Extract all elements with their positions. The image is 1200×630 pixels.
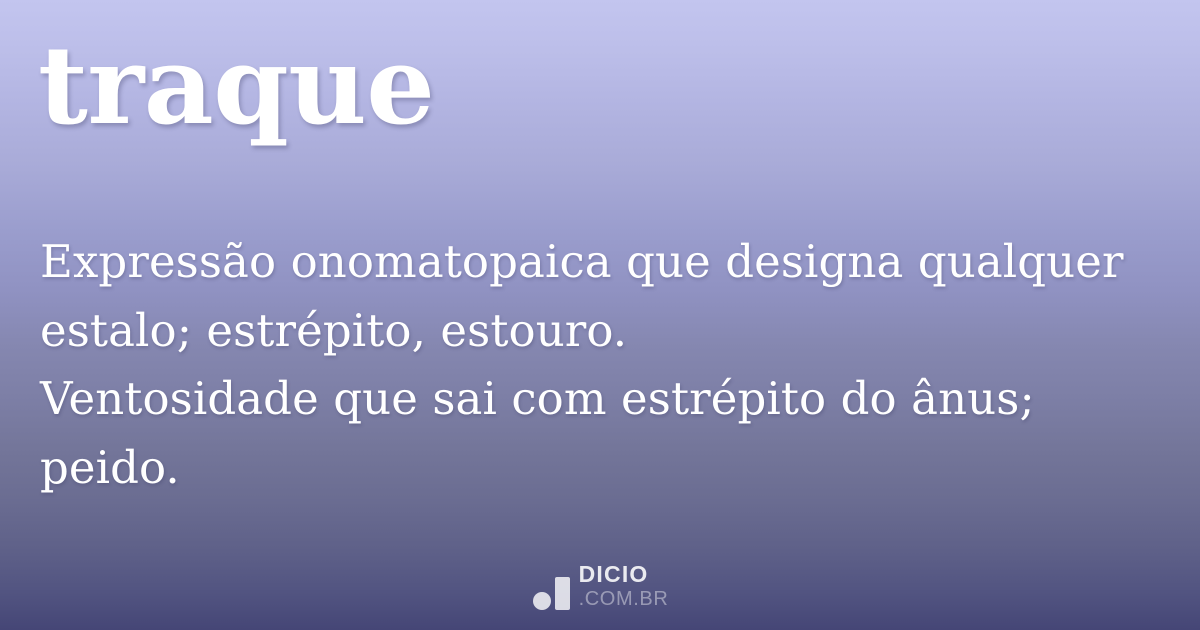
rounded-bar-icon: [555, 577, 570, 610]
definition-line: Ventosidade que sai com estrépito do ânu…: [40, 365, 1150, 434]
definition-list: Expressão onomatopaica que designa qualq…: [40, 228, 1150, 502]
definition-line: Expressão onomatopaica que designa qualq…: [40, 228, 1150, 297]
brand-wordmark: DICIO .COM.BR: [579, 563, 669, 610]
definition-line: estalo; estrépito, estouro.: [40, 297, 1150, 366]
circle-icon: [533, 592, 551, 610]
dictionary-share-card: traque Expressão onomatopaica que design…: [0, 0, 1200, 630]
page-title: traque: [38, 26, 1158, 147]
brand-logo: DICIO .COM.BR: [0, 570, 1200, 610]
brand-tld: .COM.BR: [579, 589, 669, 609]
brand-name: DICIO: [579, 563, 649, 586]
brand-logo-mark: [532, 576, 570, 610]
definition-line: peido.: [40, 434, 1150, 503]
headword-title: traque: [38, 26, 1158, 147]
